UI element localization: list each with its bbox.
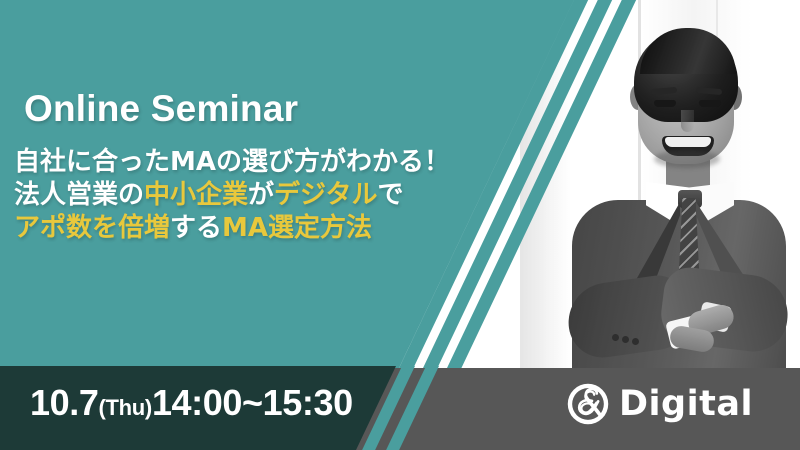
headline-plain: で: [378, 180, 404, 210]
eye-left: [654, 100, 676, 107]
logo-wordmark: Digital: [619, 384, 753, 424]
headline-line-1: 自社に合ったMAの選び方がわかる！: [14, 146, 484, 179]
headline-line-3: アポ数を倍増するMA選定方法: [14, 212, 484, 245]
headline-highlight: デジタル: [274, 180, 377, 210]
sleeve-button: [612, 334, 619, 341]
headline-plain: が: [248, 180, 274, 210]
headline-plain: 自社に合ったMAの選び方がわかる！: [14, 147, 450, 177]
hair-sweep: [640, 28, 736, 74]
eye-right: [699, 100, 721, 107]
headline-plain: 法人営業の: [14, 180, 144, 210]
headline-highlight: MA選定方法: [222, 213, 372, 243]
schedule-day-of-week: (Thu): [98, 395, 151, 420]
headline-line-2: 法人営業の中小企業がデジタルで: [14, 179, 484, 212]
headline-plain: する: [170, 213, 222, 243]
sleeve-button: [622, 336, 629, 343]
headline-highlight: アポ数を倍増: [14, 213, 170, 243]
seminar-eyebrow: Online Seminar: [24, 88, 298, 130]
brand-logo: Digital: [566, 382, 753, 426]
schedule-time-range: 14:00~15:30: [152, 382, 353, 423]
ampersand-circle-icon: [566, 382, 610, 426]
sleeve-button: [632, 338, 639, 345]
teeth: [665, 137, 711, 147]
seminar-banner: Online Seminar 自社に合ったMAの選び方がわかる！ 法人営業の中小…: [0, 0, 800, 450]
schedule-date: 10.7: [30, 382, 98, 423]
schedule-text: 10.7(Thu)14:00~15:30: [30, 382, 353, 424]
nose: [681, 110, 694, 132]
chin-shadow: [654, 150, 720, 168]
headline: 自社に合ったMAの選び方がわかる！ 法人営業の中小企業がデジタルで アポ数を倍増…: [14, 146, 484, 245]
headline-highlight: 中小企業: [144, 180, 248, 210]
